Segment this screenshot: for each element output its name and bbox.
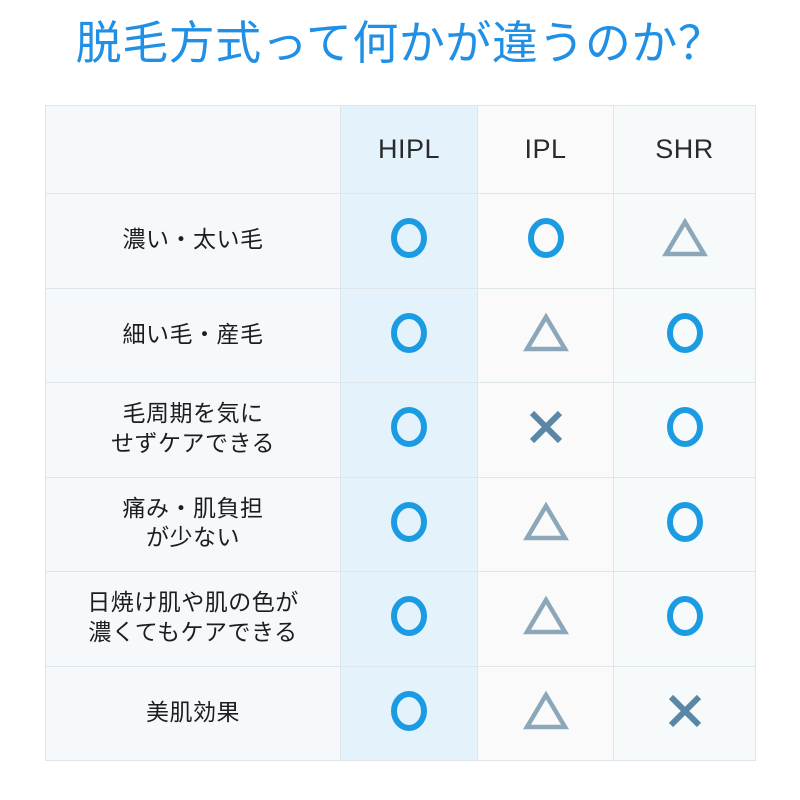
row-label-cell: 痛み・肌負担が少ない	[46, 477, 341, 572]
cross-mark-icon	[663, 689, 707, 733]
table-row: 日焼け肌や肌の色が濃くてもケアできる	[46, 572, 756, 667]
rating-cell-hipl	[341, 477, 478, 572]
rating-cell-hipl	[341, 666, 478, 761]
rating-cell-hipl	[341, 194, 478, 289]
row-label-text: 日焼け肌や肌の色が濃くてもケアできる	[46, 589, 340, 648]
rating-cell-shr	[614, 666, 756, 761]
circle-mark-icon	[663, 500, 707, 544]
row-label-cell: 日焼け肌や肌の色が濃くてもケアできる	[46, 572, 341, 667]
triangle-mark-icon	[523, 595, 569, 637]
row-label-line1: 毛周期を気に	[123, 401, 264, 427]
table-row: 濃い・太い毛	[46, 194, 756, 289]
row-label-line1: 濃い・太い毛	[123, 227, 264, 253]
row-label-cell: 濃い・太い毛	[46, 194, 341, 289]
comparison-infographic: 脱毛方式って何かが違うのか？ HIPL IPL	[0, 0, 800, 800]
circle-mark-icon	[387, 500, 431, 544]
rating-cell-ipl	[478, 572, 614, 667]
row-label-line2: せずケアできる	[54, 430, 332, 459]
table-row: 美肌効果	[46, 666, 756, 761]
rating-cell-shr	[614, 572, 756, 667]
circle-mark-icon	[524, 216, 568, 260]
header-cell-hipl: HIPL	[341, 106, 478, 194]
rating-cell-ipl	[478, 288, 614, 383]
circle-mark-icon	[663, 311, 707, 355]
circle-mark-icon	[387, 594, 431, 638]
comparison-table: HIPL IPL SHR 濃い・太い毛細い毛・産毛毛周期を気にせずケアできる痛み…	[45, 105, 756, 761]
row-label-line1: 痛み・肌負担	[123, 496, 264, 522]
rating-cell-ipl	[478, 666, 614, 761]
rating-cell-hipl	[341, 288, 478, 383]
table-row: 毛周期を気にせずケアできる	[46, 383, 756, 478]
rating-cell-hipl	[341, 572, 478, 667]
triangle-mark-icon	[662, 217, 708, 259]
header-label-ipl: IPL	[524, 134, 566, 164]
header-cell-blank	[46, 106, 341, 194]
table-row: 細い毛・産毛	[46, 288, 756, 383]
circle-mark-icon	[387, 216, 431, 260]
row-label-cell: 美肌効果	[46, 666, 341, 761]
row-label-line2: が少ない	[54, 524, 332, 553]
rating-cell-shr	[614, 194, 756, 289]
row-label-line2: 濃くてもケアできる	[54, 619, 332, 648]
row-label-cell: 細い毛・産毛	[46, 288, 341, 383]
row-label-text: 濃い・太い毛	[46, 226, 340, 255]
header-row: HIPL IPL SHR	[46, 106, 756, 194]
header-cell-shr: SHR	[614, 106, 756, 194]
triangle-mark-icon	[523, 501, 569, 543]
row-label-line1: 細い毛・産毛	[123, 322, 264, 348]
header-label-hipl: HIPL	[378, 134, 440, 164]
page-title: 脱毛方式って何かが違うのか？	[0, 8, 800, 78]
rating-cell-shr	[614, 477, 756, 572]
row-label-text: 美肌効果	[46, 699, 340, 728]
rating-cell-ipl	[478, 477, 614, 572]
row-label-cell: 毛周期を気にせずケアできる	[46, 383, 341, 478]
circle-mark-icon	[663, 594, 707, 638]
triangle-mark-icon	[523, 312, 569, 354]
circle-mark-icon	[387, 689, 431, 733]
rating-cell-ipl	[478, 383, 614, 478]
row-label-text: 毛周期を気にせずケアできる	[46, 400, 340, 459]
rating-cell-ipl	[478, 194, 614, 289]
row-label-line1: 日焼け肌や肌の色が	[87, 590, 299, 616]
circle-mark-icon	[387, 311, 431, 355]
rating-cell-shr	[614, 383, 756, 478]
row-label-text: 細い毛・産毛	[46, 321, 340, 350]
row-label-line1: 美肌効果	[146, 700, 240, 726]
table-header: HIPL IPL SHR	[46, 106, 756, 194]
rating-cell-hipl	[341, 383, 478, 478]
circle-mark-icon	[387, 405, 431, 449]
circle-mark-icon	[663, 405, 707, 449]
header-label-shr: SHR	[655, 134, 714, 164]
table-body: 濃い・太い毛細い毛・産毛毛周期を気にせずケアできる痛み・肌負担が少ない日焼け肌や…	[46, 194, 756, 761]
header-cell-ipl: IPL	[478, 106, 614, 194]
table-row: 痛み・肌負担が少ない	[46, 477, 756, 572]
triangle-mark-icon	[523, 690, 569, 732]
cross-mark-icon	[524, 405, 568, 449]
rating-cell-shr	[614, 288, 756, 383]
row-label-text: 痛み・肌負担が少ない	[46, 495, 340, 554]
comparison-table-wrapper: HIPL IPL SHR 濃い・太い毛細い毛・産毛毛周期を気にせずケアできる痛み…	[45, 105, 755, 760]
